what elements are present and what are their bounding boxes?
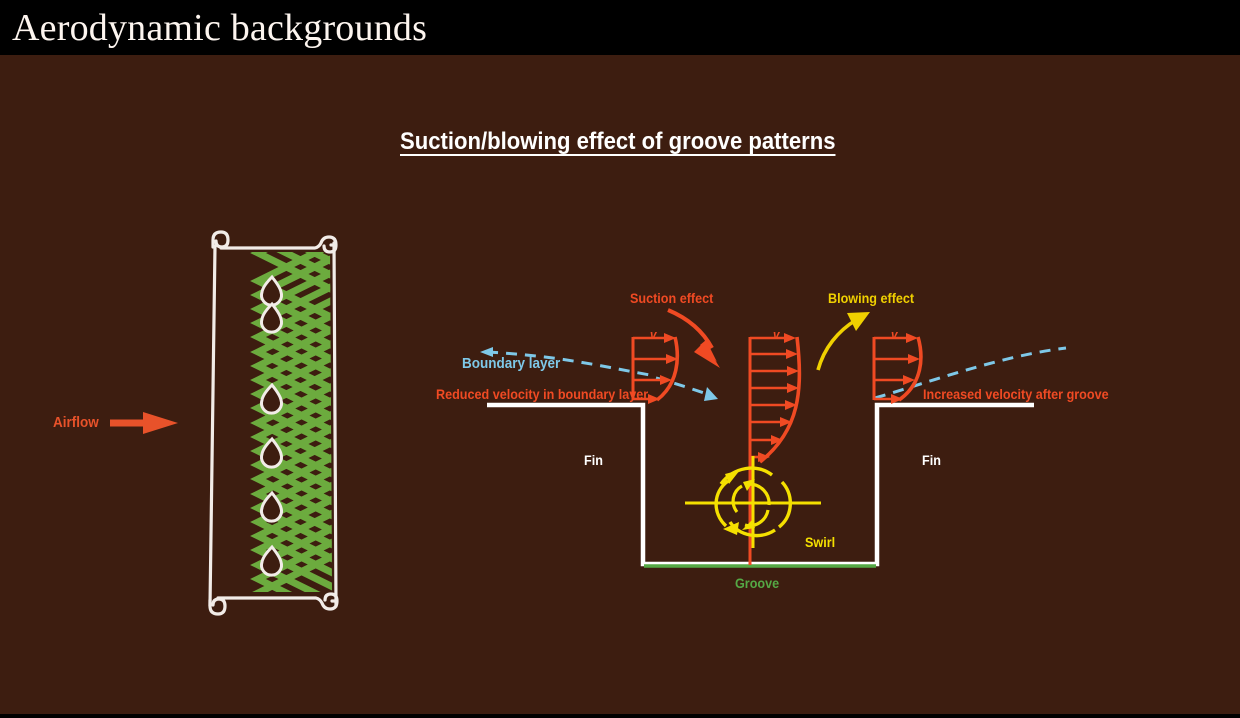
velocity-symbol-left: v — [650, 327, 657, 342]
reduced-velocity-label: Reduced velocity in boundary layer — [436, 386, 648, 402]
groove-label: Groove — [735, 575, 779, 591]
fin-label-left: Fin — [584, 452, 603, 468]
bottom-strip — [0, 714, 1240, 718]
increased-velocity-label: Increased velocity after groove — [923, 386, 1109, 402]
fin-outline — [487, 405, 1034, 564]
airflow-arrow — [110, 412, 178, 434]
blowing-effect-arrow — [818, 312, 870, 370]
fin-label-right: Fin — [922, 452, 941, 468]
left-diagram-graphics — [0, 0, 1240, 718]
airflow-label: Airflow — [53, 414, 99, 431]
slide-canvas: Aerodynamic backgrounds Suction/blowing … — [0, 0, 1240, 718]
swirl-graphic — [685, 456, 821, 548]
velocity-symbol-center: v — [773, 327, 780, 342]
velocity-profile-right — [874, 333, 921, 404]
velocity-symbol-right: v — [891, 327, 898, 342]
boundary-layer-label: Boundary layer — [462, 355, 560, 372]
blowing-effect-label: Blowing effect — [828, 290, 914, 306]
swirl-label: Swirl — [805, 534, 835, 550]
suction-effect-label: Suction effect — [630, 290, 713, 306]
